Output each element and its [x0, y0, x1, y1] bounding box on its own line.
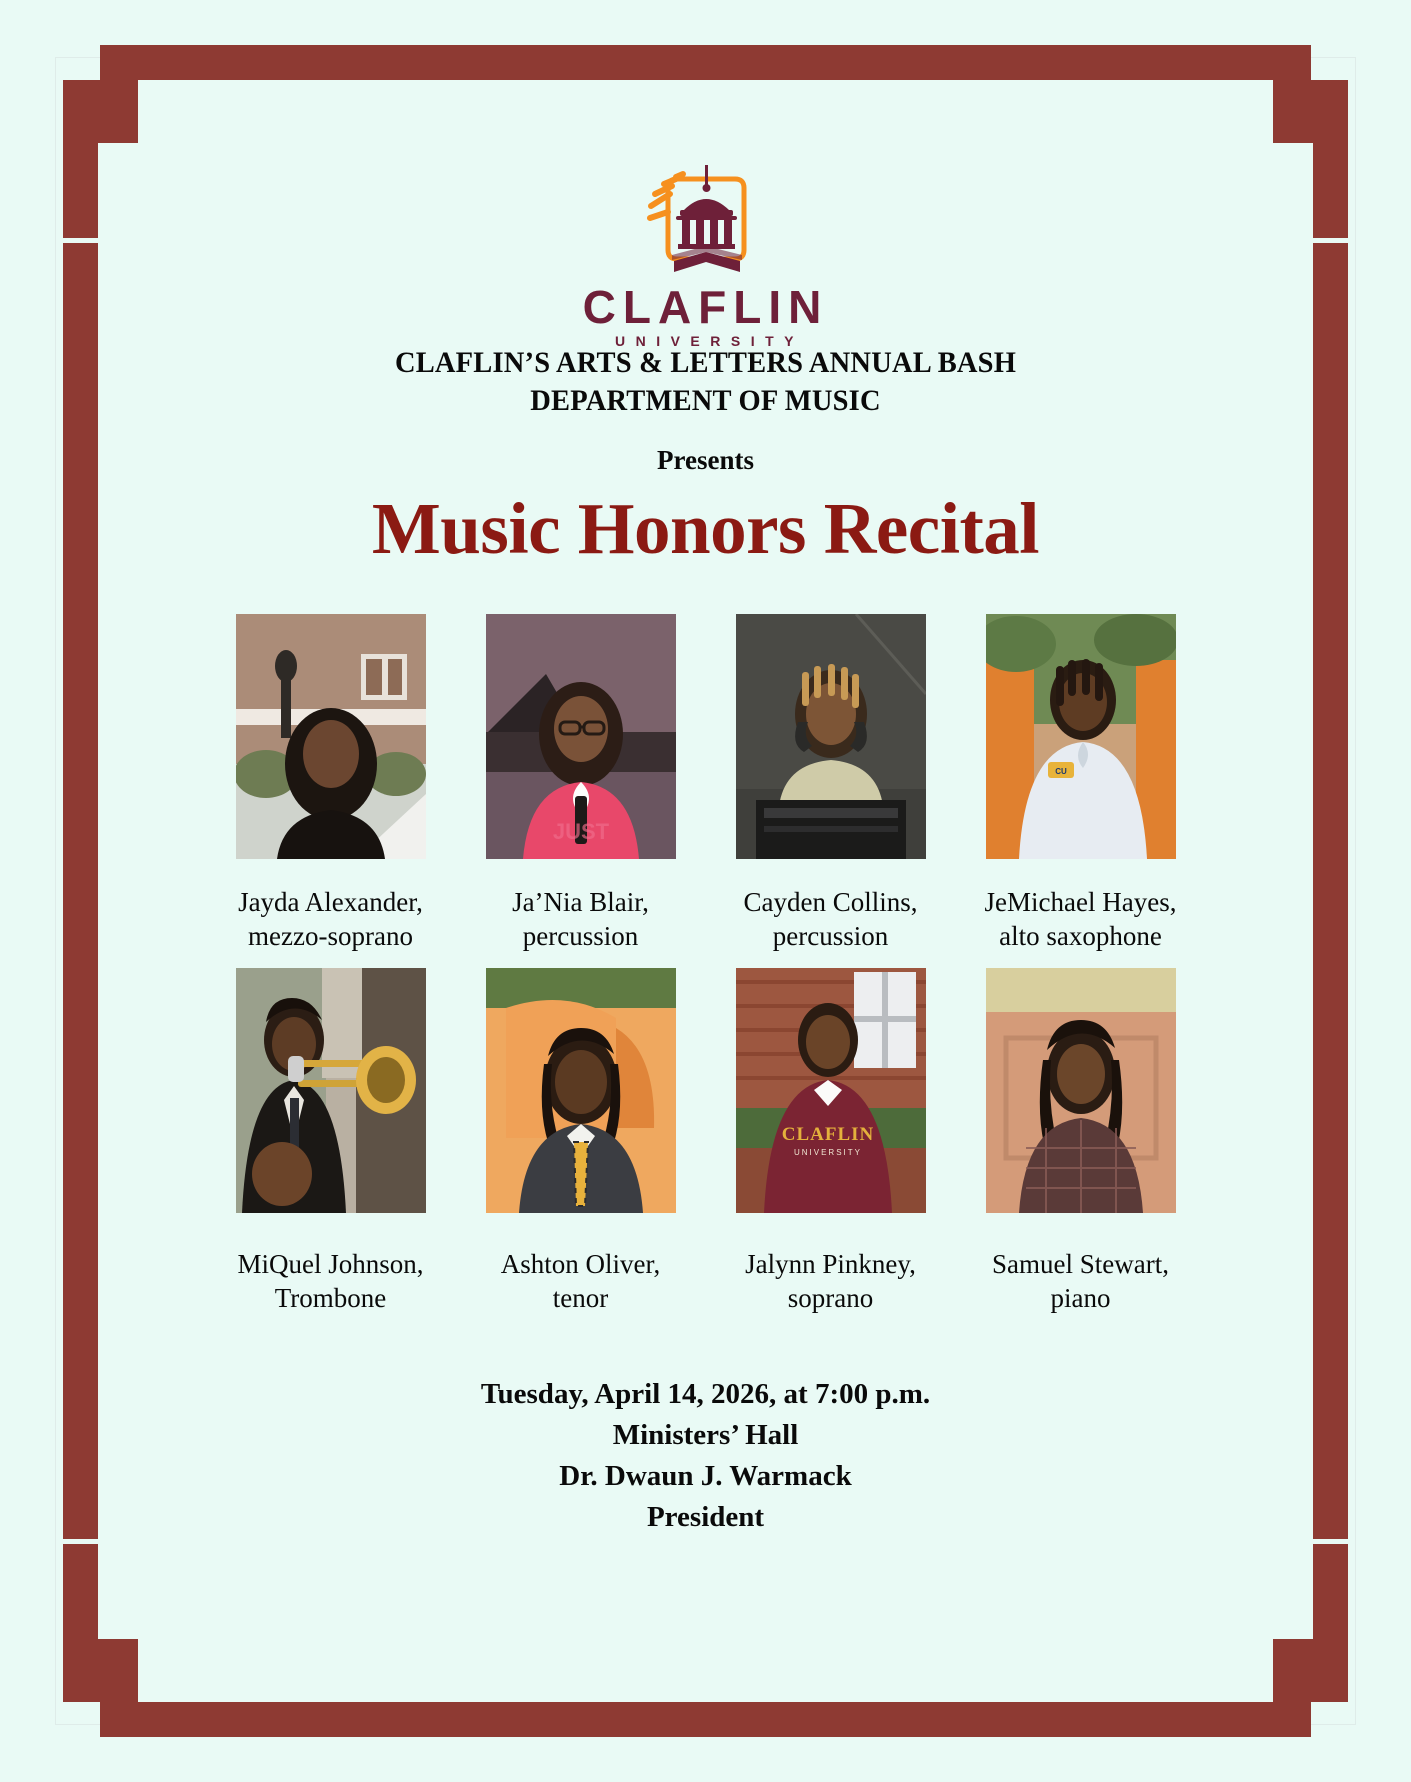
heading-line-2: DEPARTMENT OF MUSIC — [35, 382, 1375, 420]
performer-caption: JeMichael Hayes, alto saxophone — [985, 885, 1177, 954]
performer-role: percussion — [512, 919, 649, 954]
claflin-dome-icon — [606, 160, 806, 280]
performer-caption: Jayda Alexander, mezzo-soprano — [238, 885, 423, 954]
performer-name: Ashton Oliver, — [501, 1247, 660, 1282]
performer-caption: Ashton Oliver, tenor — [501, 1247, 660, 1316]
recital-poster: CLAFLIN UNIVERSITY CLAFLIN’S ARTS & LETT… — [0, 0, 1411, 1782]
wordmark-claflin: CLAFLIN — [0, 284, 1411, 330]
performer-name: Jalynn Pinkney, — [745, 1247, 916, 1282]
photo-janiia-blair: JUST — [486, 614, 676, 859]
performer-role: Trombone — [237, 1281, 423, 1316]
photo-jayda-alexander — [236, 614, 426, 859]
corner-ornament-bottom-left — [38, 1579, 203, 1744]
event-datetime: Tuesday, April 14, 2026, at 7:00 p.m. — [0, 1374, 1411, 1415]
photo-jemichael-hayes: CU — [986, 614, 1176, 859]
performer-role: mezzo-soprano — [238, 919, 423, 954]
performer-name: Cayden Collins, — [744, 885, 918, 920]
performer-caption: Jalynn Pinkney, soprano — [745, 1247, 916, 1316]
claflin-wordmark: CLAFLIN UNIVERSITY — [0, 284, 1411, 349]
performer-name: JeMichael Hayes, — [985, 885, 1177, 920]
heading-line-1: CLAFLIN’S ARTS & LETTERS ANNUAL BASH — [35, 344, 1375, 382]
event-details: Tuesday, April 14, 2026, at 7:00 p.m. Mi… — [0, 1374, 1411, 1539]
event-department-heading: CLAFLIN’S ARTS & LETTERS ANNUAL BASH DEP… — [35, 344, 1375, 419]
performer-card: Jayda Alexander, mezzo-soprano — [206, 614, 456, 954]
svg-text:JUST: JUST — [552, 819, 609, 844]
performer-name: Jayda Alexander, — [238, 885, 423, 920]
performer-role: tenor — [501, 1281, 660, 1316]
performer-caption: Cayden Collins, percussion — [744, 885, 918, 954]
performer-card: CLAFLIN UNIVERSITY Jalynn Pinkney, sopra… — [706, 968, 956, 1316]
performer-card: Ashton Oliver, tenor — [456, 968, 706, 1316]
claflin-logo: CLAFLIN UNIVERSITY — [0, 160, 1411, 310]
photo-jalynn-pinkney: CLAFLIN UNIVERSITY — [736, 968, 926, 1213]
performer-grid: Jayda Alexander, mezzo-soprano — [206, 614, 1206, 1316]
svg-text:CU: CU — [1055, 767, 1067, 776]
performer-card: Samuel Stewart, piano — [956, 968, 1206, 1316]
page-title: Music Honors Recital — [0, 488, 1411, 570]
photo-samuel-stewart — [986, 968, 1176, 1213]
corner-ornament-bottom-right — [1208, 1579, 1373, 1744]
performer-card: CU JeMichael Hayes, alto saxophone — [956, 614, 1206, 954]
performer-caption: Ja’Nia Blair, percussion — [512, 885, 649, 954]
performer-card: MiQuel Johnson, Trombone — [206, 968, 456, 1316]
svg-text:CLAFLIN: CLAFLIN — [781, 1124, 874, 1145]
performer-role: piano — [992, 1281, 1169, 1316]
president-name: Dr. Dwaun J. Warmack — [0, 1456, 1411, 1497]
performer-card: Cayden Collins, percussion — [706, 614, 956, 954]
poster-content: CLAFLIN UNIVERSITY CLAFLIN’S ARTS & LETT… — [0, 0, 1411, 1539]
photo-cayden-collins — [736, 614, 926, 859]
border-bar-bottom — [302, 1702, 1109, 1737]
photo-ashton-oliver — [486, 968, 676, 1213]
event-venue: Ministers’ Hall — [0, 1415, 1411, 1456]
performer-name: MiQuel Johnson, — [237, 1247, 423, 1282]
svg-text:UNIVERSITY: UNIVERSITY — [793, 1148, 861, 1157]
performer-name: Samuel Stewart, — [992, 1247, 1169, 1282]
performer-name: Ja’Nia Blair, — [512, 885, 649, 920]
performer-caption: MiQuel Johnson, Trombone — [237, 1247, 423, 1316]
photo-miquel-johnson — [236, 968, 426, 1213]
performer-role: percussion — [744, 919, 918, 954]
president-title: President — [0, 1497, 1411, 1538]
performer-card: JUST Ja’Nia Blair, percussion — [456, 614, 706, 954]
performer-caption: Samuel Stewart, piano — [992, 1247, 1169, 1316]
performer-role: soprano — [745, 1281, 916, 1316]
performer-role: alto saxophone — [985, 919, 1177, 954]
presents-label: Presents — [0, 445, 1411, 476]
